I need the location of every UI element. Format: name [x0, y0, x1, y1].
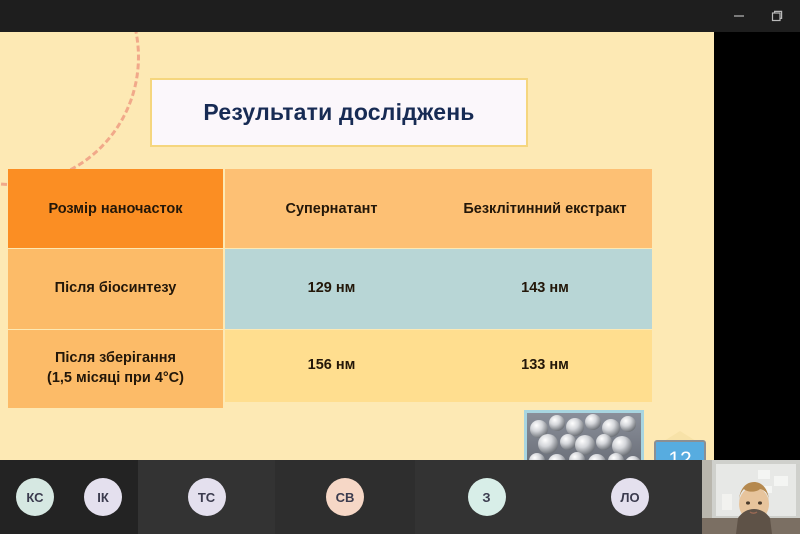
table-header-extract: Безклітинний екстракт	[438, 169, 652, 248]
nanoparticle-photo	[524, 410, 644, 460]
slide-title-card: Результати досліджень	[150, 78, 528, 147]
window-titlebar	[0, 0, 800, 32]
participant-tile-ts[interactable]: ТС	[138, 460, 275, 534]
shared-screen-stage: Результати досліджень Розмір наночасток …	[0, 32, 800, 460]
avatar-initials: З	[482, 490, 490, 505]
meeting-window: Результати досліджень Розмір наночасток …	[0, 0, 800, 534]
avatar-initials: СВ	[336, 490, 355, 505]
restore-window-icon[interactable]	[760, 0, 794, 32]
participant-tile-z[interactable]: З	[415, 460, 558, 534]
avatar[interactable]: СВ	[326, 478, 364, 516]
minimize-icon[interactable]	[722, 0, 756, 32]
table-header-size: Розмір наночасток	[8, 169, 223, 248]
table-header-supernatant: Супернатант	[225, 169, 438, 248]
table-cell-r1-extract: 143 нм	[438, 249, 652, 329]
participant-strip: КС ІК ТС СВ З ЛО	[0, 460, 800, 534]
avatar[interactable]: ІК	[84, 478, 122, 516]
avatar-initials: ЛО	[620, 490, 639, 505]
decorative-dashed-arc	[0, 32, 140, 186]
avatar[interactable]: З	[468, 478, 506, 516]
participant-video-tile[interactable]	[702, 460, 800, 534]
table-row-label-storage-line2: (1,5 місяці при 4°C)	[47, 369, 184, 389]
avatar[interactable]: КС	[16, 478, 54, 516]
table-cell-r1-supernatant: 129 нм	[225, 249, 438, 329]
table-cell-r2-extract: 133 нм	[438, 330, 652, 402]
table-cell-r2-supernatant: 156 нм	[225, 330, 438, 402]
avatar-initials: ТС	[198, 490, 215, 505]
avatar-initials: КС	[26, 490, 43, 505]
table-row-label-biosynthesis: Після біосинтезу	[8, 249, 223, 329]
table-row-label-storage: Після зберігання (1,5 місяці при 4°C)	[8, 330, 223, 408]
avatar[interactable]: ЛО	[611, 478, 649, 516]
presentation-slide: Результати досліджень Розмір наночасток …	[0, 32, 714, 460]
avatar[interactable]: ТС	[188, 478, 226, 516]
avatar-initials: ІК	[97, 490, 109, 505]
slide-number-badge: 12	[650, 431, 710, 460]
participant-tile-lo[interactable]: ЛО	[558, 460, 702, 534]
participant-tile-group-1[interactable]: КС ІК	[0, 460, 138, 534]
table-row-label-storage-line1: Після зберігання	[47, 349, 184, 369]
page-title: Результати досліджень	[203, 99, 474, 126]
participant-tile-sv[interactable]: СВ	[275, 460, 415, 534]
slide-number-value: 12	[654, 440, 706, 460]
